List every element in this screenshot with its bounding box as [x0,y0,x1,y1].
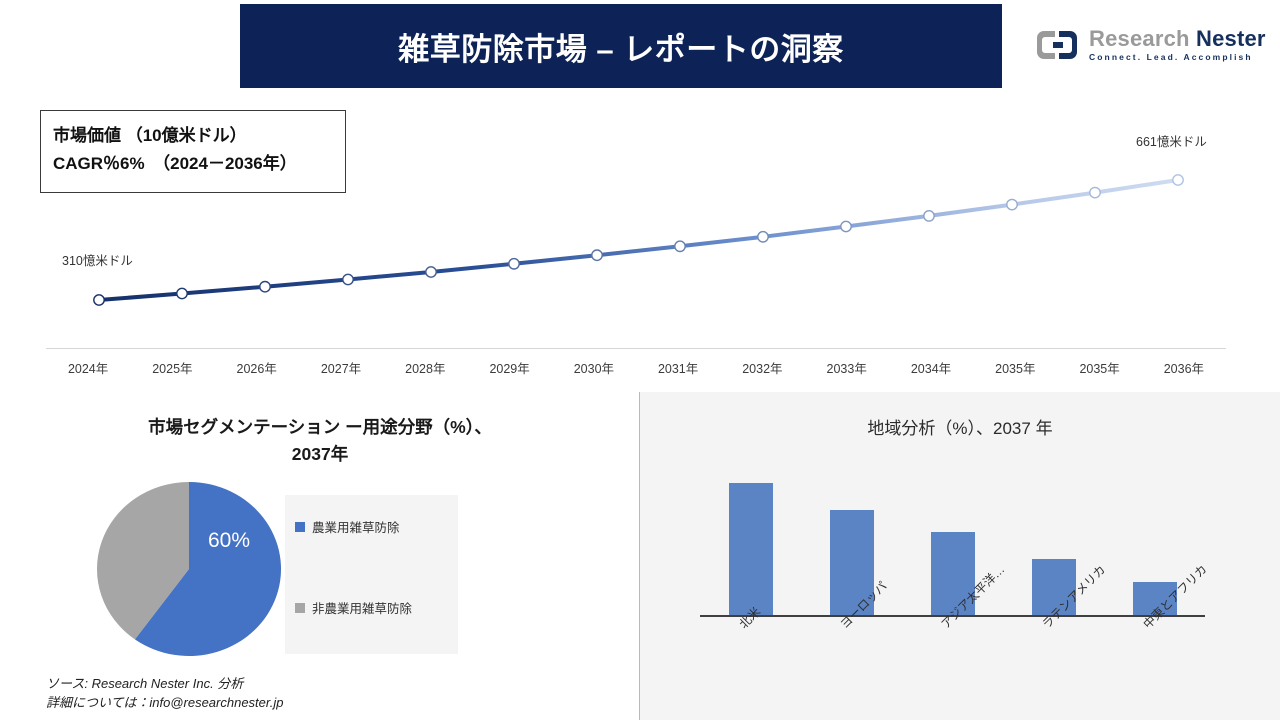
bar-chart-x-axis-labels: 北米ヨーロッパアジア太平洋…ラテンアメリカ中東とアフリカ [700,620,1205,710]
regional-analysis-title: 地域分析（%）、2037 年 [640,414,1280,439]
logo-text: Research Nester Connect. Lead. Accomplis… [1089,28,1266,62]
line-data-point [343,274,353,284]
line-chart-x-axis-labels: 2024年2025年2026年2027年2028年2029年2030年2031年… [46,358,1226,382]
brand-logo: Research Nester Connect. Lead. Accomplis… [1035,19,1265,71]
bar-column [729,483,773,616]
line-chart-x-tick: 2030年 [574,358,614,377]
logo-tagline: Connect. Lead. Accomplish [1089,53,1266,62]
chain-link-logo-icon [1035,28,1081,62]
legend-swatch-blue [295,522,305,532]
logo-name: Research Nester [1089,28,1266,50]
legend-item-agricultural: 農業用雑草防除 [295,517,458,536]
line-chart-x-tick: 2029年 [489,358,529,377]
page-title: 雑草防除市場 – レポートの洞察 [398,24,843,69]
line-data-point [592,250,602,260]
pie-slice-value-label: 60% [208,529,250,553]
source-line2: 詳細については：info@researchnester.jp [46,694,283,713]
line-data-point [94,295,104,305]
cagr-label: CAGR％6% （2024－2036年） [53,150,345,178]
line-chart-x-tick: 2028年 [405,358,445,377]
legend-label-non-agricultural: 非農業用雑草防除 [312,598,412,617]
segmentation-title-line1: 市場セグメンテーション ー用途分野（%）、 [50,414,590,441]
line-data-point [260,282,270,292]
line-chart-x-tick: 2032年 [742,358,782,377]
line-data-point [924,211,934,221]
legend-label-agricultural: 農業用雑草防除 [312,517,400,536]
line-data-point [1090,187,1100,197]
source-note: ソース: Research Nester Inc. 分析 詳細については：inf… [46,675,283,713]
line-data-point [758,232,768,242]
line-chart-x-tick: 2031年 [658,358,698,377]
legend-item-non-agricultural: 非農業用雑草防除 [295,598,458,617]
logo-name-second: Nester [1196,26,1266,51]
line-chart-x-tick: 2035年 [1079,358,1119,377]
segmentation-title: 市場セグメンテーション ー用途分野（%）、 2037年 [50,414,590,468]
header-band: 雑草防除市場 – レポートの洞察 [240,4,1002,88]
line-chart-x-tick: 2033年 [827,358,867,377]
segmentation-pie-chart [95,480,283,658]
segmentation-title-line2: 2037年 [50,441,590,468]
line-chart-x-tick: 2034年 [911,358,951,377]
line-data-point [426,267,436,277]
line-data-point [1173,175,1183,185]
line-chart-x-tick: 2026年 [237,358,277,377]
line-chart-x-tick: 2027年 [321,358,361,377]
line-data-point [1007,199,1017,209]
line-data-point [675,241,685,251]
line-chart-x-tick: 2036年 [1164,358,1204,377]
segmentation-legend: 農業用雑草防除 非農業用雑草防除 [285,495,458,654]
line-chart-x-tick: 2024年 [68,358,108,377]
line-data-point [177,288,187,298]
logo-name-first: Research [1089,26,1190,51]
line-chart-x-tick: 2025年 [152,358,192,377]
line-chart-axis [46,348,1226,349]
segmentation-panel: 市場セグメンテーション ー用途分野（%）、 2037年 60% 農業用雑草防除 … [0,392,639,720]
regional-bars [700,464,1205,616]
legend-swatch-gray [295,603,305,613]
line-chart-x-tick: 2035年 [995,358,1035,377]
source-line1: ソース: Research Nester Inc. 分析 [46,675,283,694]
regional-analysis-panel: 地域分析（%）、2037 年 北米ヨーロッパアジア太平洋…ラテンアメリカ中東とア… [639,392,1280,720]
line-data-point [509,259,519,269]
market-value-label: 市場価値 （10億米ドル） [53,122,345,150]
line-data-point [841,221,851,231]
market-value-callout: 市場価値 （10億米ドル） CAGR％6% （2024－2036年） [40,110,346,193]
